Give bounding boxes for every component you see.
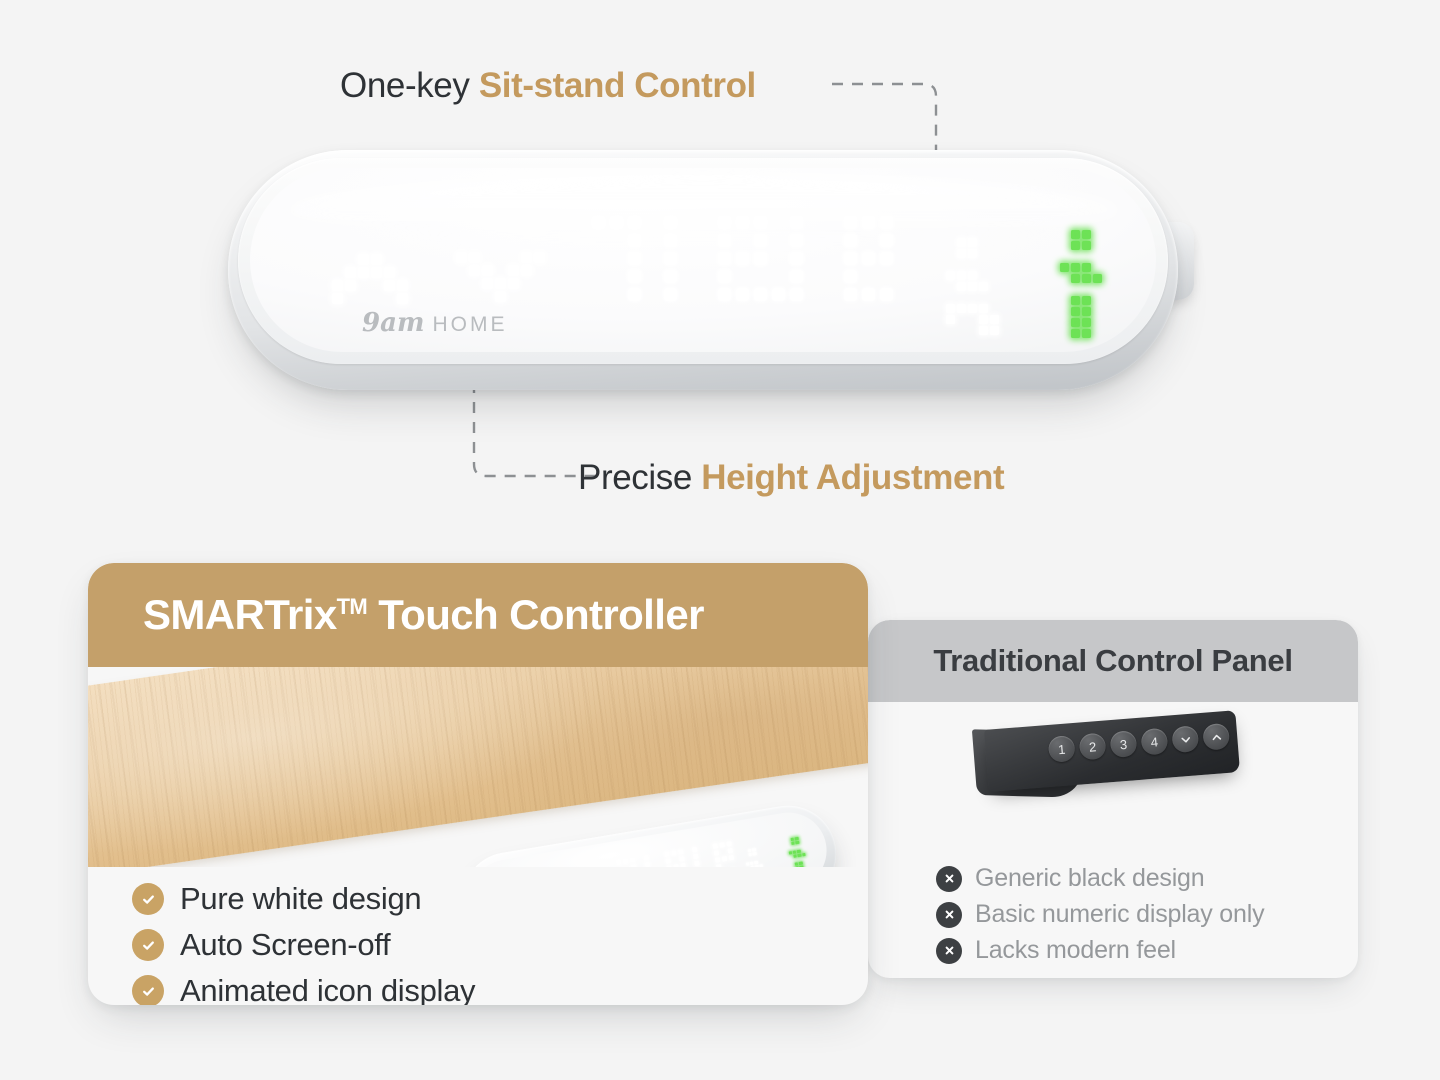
led-dot	[687, 862, 693, 867]
led-dot	[643, 855, 649, 861]
smartrix-card-header: SMARTrixTM Touch Controller	[88, 563, 868, 667]
smartrix-title-rest: Touch Controller	[367, 591, 704, 638]
chevron-down-button[interactable]	[1171, 725, 1199, 753]
led-dot	[880, 216, 893, 229]
led-dot	[686, 855, 692, 861]
traditional-panel-device: 1 2 3 4	[984, 710, 1240, 792]
led-dot	[730, 862, 736, 867]
callout-sit-stand-plain: One-key	[340, 66, 479, 105]
led-dot	[673, 864, 679, 867]
brand-logo: 9am HOME	[362, 308, 507, 338]
led-dot	[664, 270, 677, 283]
led-dot	[790, 234, 803, 247]
led-dot	[664, 288, 677, 301]
led-dot	[723, 863, 729, 867]
led-dot	[772, 270, 785, 283]
led-dot	[718, 288, 731, 301]
standing-person-icon[interactable]	[787, 836, 809, 867]
chevron-up-icon	[1209, 730, 1223, 744]
led-dot	[826, 288, 839, 301]
led-dot	[754, 252, 767, 265]
led-dot	[610, 252, 623, 265]
led-dot	[862, 216, 875, 229]
traditional-card-title: Traditional Control Panel	[933, 643, 1292, 679]
chevron-up-button[interactable]	[1202, 723, 1230, 751]
led-dot	[736, 216, 749, 229]
led-dot	[665, 858, 671, 864]
led-dot	[638, 863, 644, 867]
led-dot	[646, 270, 659, 283]
con-item: Generic black design	[936, 864, 1358, 893]
smartrix-controller-device: 9am HOME	[228, 150, 1178, 390]
sitting-person-icon[interactable]	[744, 847, 770, 867]
chevron-up-pixel-icon[interactable]	[332, 254, 408, 304]
led-dot	[682, 234, 695, 247]
smartrix-controller-card: SMARTrixTM Touch Controller 9am HOME	[88, 563, 868, 1005]
led-dot	[844, 288, 857, 301]
led-dot	[702, 866, 708, 867]
led-dot	[624, 865, 630, 867]
led-dot	[628, 288, 641, 301]
led-dot	[694, 861, 700, 867]
chevron-down-icon	[1178, 732, 1192, 746]
led-dot	[880, 288, 893, 301]
led-dot	[772, 288, 785, 301]
led-dot	[808, 252, 821, 265]
led-dot-matrix-display	[592, 216, 893, 301]
led-dot	[701, 859, 707, 865]
led-dot	[790, 270, 803, 283]
preset-button-4[interactable]: 4	[1140, 728, 1168, 756]
led-dot	[826, 270, 839, 283]
led-dot	[729, 855, 735, 861]
led-dot	[592, 252, 605, 265]
led-dot	[700, 252, 713, 265]
led-dot	[628, 252, 641, 265]
led-dot	[682, 252, 695, 265]
led-dot	[692, 847, 698, 853]
led-dot	[682, 270, 695, 283]
led-dot	[808, 270, 821, 283]
led-dot	[610, 216, 623, 229]
feature-label: Animated icon display	[180, 973, 475, 1005]
led-dot	[754, 216, 767, 229]
led-dot	[610, 270, 623, 283]
led-dot	[707, 851, 713, 857]
traditional-cons-list: Generic black design Basic numeric displ…	[868, 854, 1358, 965]
led-dot	[718, 216, 731, 229]
led-dot	[718, 252, 731, 265]
led-dot	[716, 864, 722, 867]
callout-sit-stand-accent: Sit-stand Control	[479, 66, 756, 105]
led-dot	[610, 288, 623, 301]
led-dot	[672, 857, 678, 863]
led-dot	[664, 234, 677, 247]
traditional-control-panel-card: Traditional Control Panel 1 2 3 4	[868, 620, 1358, 978]
led-dot	[617, 866, 623, 867]
con-item: Basic numeric display only	[936, 900, 1358, 929]
preset-button-3[interactable]: 3	[1110, 730, 1138, 758]
led-dot	[671, 850, 677, 856]
led-dot	[726, 841, 732, 847]
led-dot	[880, 234, 893, 247]
led-dot	[826, 216, 839, 229]
led-dot	[808, 234, 821, 247]
led-dot	[682, 216, 695, 229]
led-dot	[736, 270, 749, 283]
feature-label: Pure white design	[180, 881, 421, 917]
led-dot	[709, 865, 715, 867]
led-dot	[592, 216, 605, 229]
led-dot	[736, 252, 749, 265]
led-dot	[718, 234, 731, 247]
led-dot	[646, 216, 659, 229]
led-dot	[685, 848, 691, 854]
led-dot	[736, 234, 749, 247]
led-dot	[790, 288, 803, 301]
led-dot	[664, 216, 677, 229]
led-dot	[699, 846, 705, 852]
led-dot	[645, 862, 651, 867]
led-dot	[880, 270, 893, 283]
x-circle-icon	[936, 902, 962, 928]
led-dot	[715, 857, 721, 863]
led-dot	[693, 854, 699, 860]
smartrix-features-list: Pure white design Auto Screen-off Animat…	[88, 867, 868, 1005]
led-dot	[708, 858, 714, 864]
feature-item: Auto Screen-off	[132, 927, 868, 963]
feature-label: Auto Screen-off	[180, 927, 390, 963]
led-dot	[651, 861, 657, 867]
led-dot	[678, 849, 684, 855]
traditional-card-header: Traditional Control Panel	[868, 620, 1358, 702]
led-dot	[623, 858, 629, 864]
led-dot	[844, 216, 857, 229]
smartrix-card-title: SMARTrixTM Touch Controller	[143, 591, 704, 639]
led-dot	[844, 252, 857, 265]
led-dot	[862, 288, 875, 301]
feature-item: Animated icon display	[132, 973, 868, 1005]
led-dot	[628, 270, 641, 283]
led-dot	[826, 252, 839, 265]
led-dot	[679, 856, 685, 862]
led-dot	[754, 270, 767, 283]
led-dot	[826, 234, 839, 247]
led-dot	[666, 865, 672, 867]
led-dot	[790, 216, 803, 229]
led-dot	[844, 234, 857, 247]
con-label: Lacks modern feel	[975, 936, 1176, 965]
led-dot	[592, 288, 605, 301]
brand-word: HOME	[432, 313, 507, 337]
led-dot	[736, 288, 749, 301]
inset-device-face: 9am HOME	[465, 807, 833, 867]
led-dot	[754, 288, 767, 301]
callout-height-adjustment: Precise Height Adjustment	[578, 458, 1004, 498]
led-dot	[862, 270, 875, 283]
brand-script: 9am	[362, 308, 424, 338]
led-dot	[682, 288, 695, 301]
callout-height-plain: Precise	[578, 458, 701, 497]
traditional-product-stage: 1 2 3 4	[868, 702, 1358, 854]
led-dot	[636, 856, 642, 862]
led-dot	[610, 234, 623, 247]
led-dot	[712, 843, 718, 849]
led-dot	[790, 252, 803, 265]
led-dot	[657, 852, 663, 858]
x-circle-icon	[936, 866, 962, 892]
check-circle-icon	[132, 883, 164, 915]
led-dot	[650, 854, 656, 860]
trademark-symbol: TM	[337, 594, 368, 619]
led-dot	[616, 859, 622, 865]
led-dot	[646, 288, 659, 301]
led-dot	[628, 234, 641, 247]
led-dot	[844, 270, 857, 283]
led-dot	[592, 234, 605, 247]
con-item: Lacks modern feel	[936, 936, 1358, 965]
standing-person-icon[interactable]	[1060, 230, 1102, 338]
led-dot	[664, 851, 670, 857]
led-dot	[680, 863, 686, 867]
callout-height-accent: Height Adjustment	[701, 458, 1004, 497]
preset-button-1[interactable]: 1	[1048, 735, 1076, 763]
led-dot	[664, 252, 677, 265]
led-dot	[880, 252, 893, 265]
chevron-down-pixel-icon[interactable]	[456, 252, 545, 302]
led-dot	[772, 216, 785, 229]
smartrix-product-stage: 9am HOME	[88, 667, 868, 867]
led-dot	[862, 234, 875, 247]
led-dot	[631, 864, 637, 867]
con-label: Generic black design	[975, 864, 1204, 893]
led-dot	[772, 234, 785, 247]
preset-button-2[interactable]: 2	[1079, 733, 1107, 761]
led-dot	[727, 848, 733, 854]
x-circle-icon	[936, 938, 962, 964]
led-dot	[592, 270, 605, 283]
led-dot	[700, 852, 706, 858]
led-dot	[646, 234, 659, 247]
led-dot	[658, 859, 664, 865]
led-dot	[722, 856, 728, 862]
led-dot	[808, 288, 821, 301]
led-dot	[720, 849, 726, 855]
hero-section: One-key Sit-stand Control Precise Height…	[0, 0, 1440, 540]
led-dot-matrix-display	[616, 841, 737, 867]
smartrix-title-main: SMARTrix	[143, 591, 337, 638]
led-dot	[660, 866, 666, 867]
sitting-person-icon[interactable]	[946, 238, 999, 335]
check-circle-icon	[132, 929, 164, 961]
callout-sit-stand-control: One-key Sit-stand Control	[340, 66, 756, 106]
led-dot	[700, 270, 713, 283]
led-dot	[628, 216, 641, 229]
led-dot	[646, 252, 659, 265]
led-dot	[630, 857, 636, 863]
feature-item: Pure white design	[132, 881, 868, 917]
led-dot	[700, 234, 713, 247]
led-dot	[808, 216, 821, 229]
led-dot	[719, 842, 725, 848]
led-dot	[754, 234, 767, 247]
led-dot	[714, 850, 720, 856]
con-label: Basic numeric display only	[975, 900, 1264, 929]
led-dot	[862, 252, 875, 265]
led-dot	[706, 844, 712, 850]
led-dot	[700, 216, 713, 229]
check-circle-icon	[132, 975, 164, 1005]
led-dot	[700, 288, 713, 301]
led-dot	[718, 270, 731, 283]
led-dot	[772, 252, 785, 265]
device-touch-face: 9am HOME	[250, 168, 1156, 352]
